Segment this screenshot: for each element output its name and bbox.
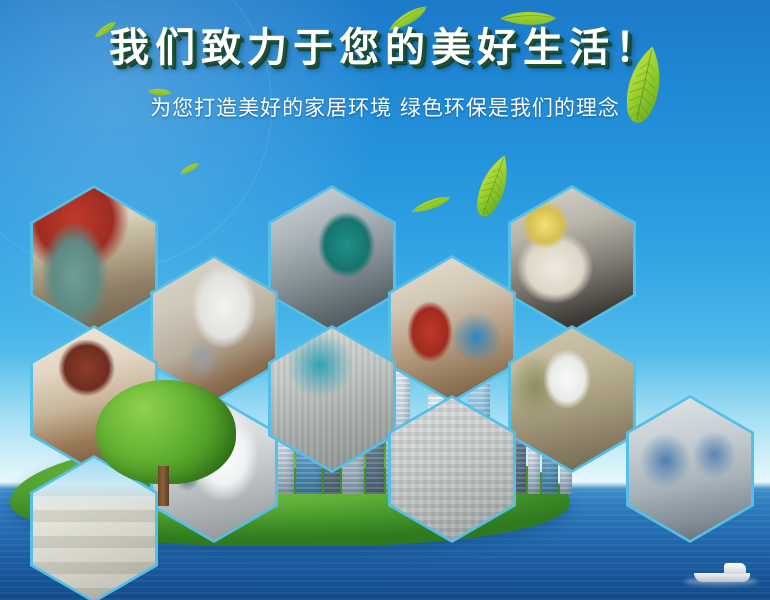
tree-trunk	[158, 466, 169, 506]
headline-container: 我们致力于您的美好生活！	[0, 28, 770, 68]
white-boat-icon	[694, 560, 750, 582]
hex-demolition-work-frame	[33, 188, 155, 330]
hex-demolition-work-photo	[33, 188, 155, 330]
leaf-center-small-icon	[409, 194, 453, 216]
boat-hull	[694, 573, 750, 582]
hex-demolition-work[interactable]	[30, 185, 158, 333]
leaf-center-large-icon	[465, 148, 521, 225]
banner-stage: 我们致力于您的美好生活！ 为您打造美好的家居环境 绿色环保是我们的理念	[0, 0, 770, 600]
boat-cabin	[724, 563, 746, 574]
leaf-low-left-small-icon	[177, 158, 201, 174]
subline-container: 为您打造美好的家居环境 绿色环保是我们的理念	[0, 92, 770, 122]
green-tree-icon	[96, 380, 236, 504]
page-title: 我们致力于您的美好生活！	[109, 28, 661, 68]
page-subtitle: 为您打造美好的家居环境 绿色环保是我们的理念	[150, 92, 620, 122]
